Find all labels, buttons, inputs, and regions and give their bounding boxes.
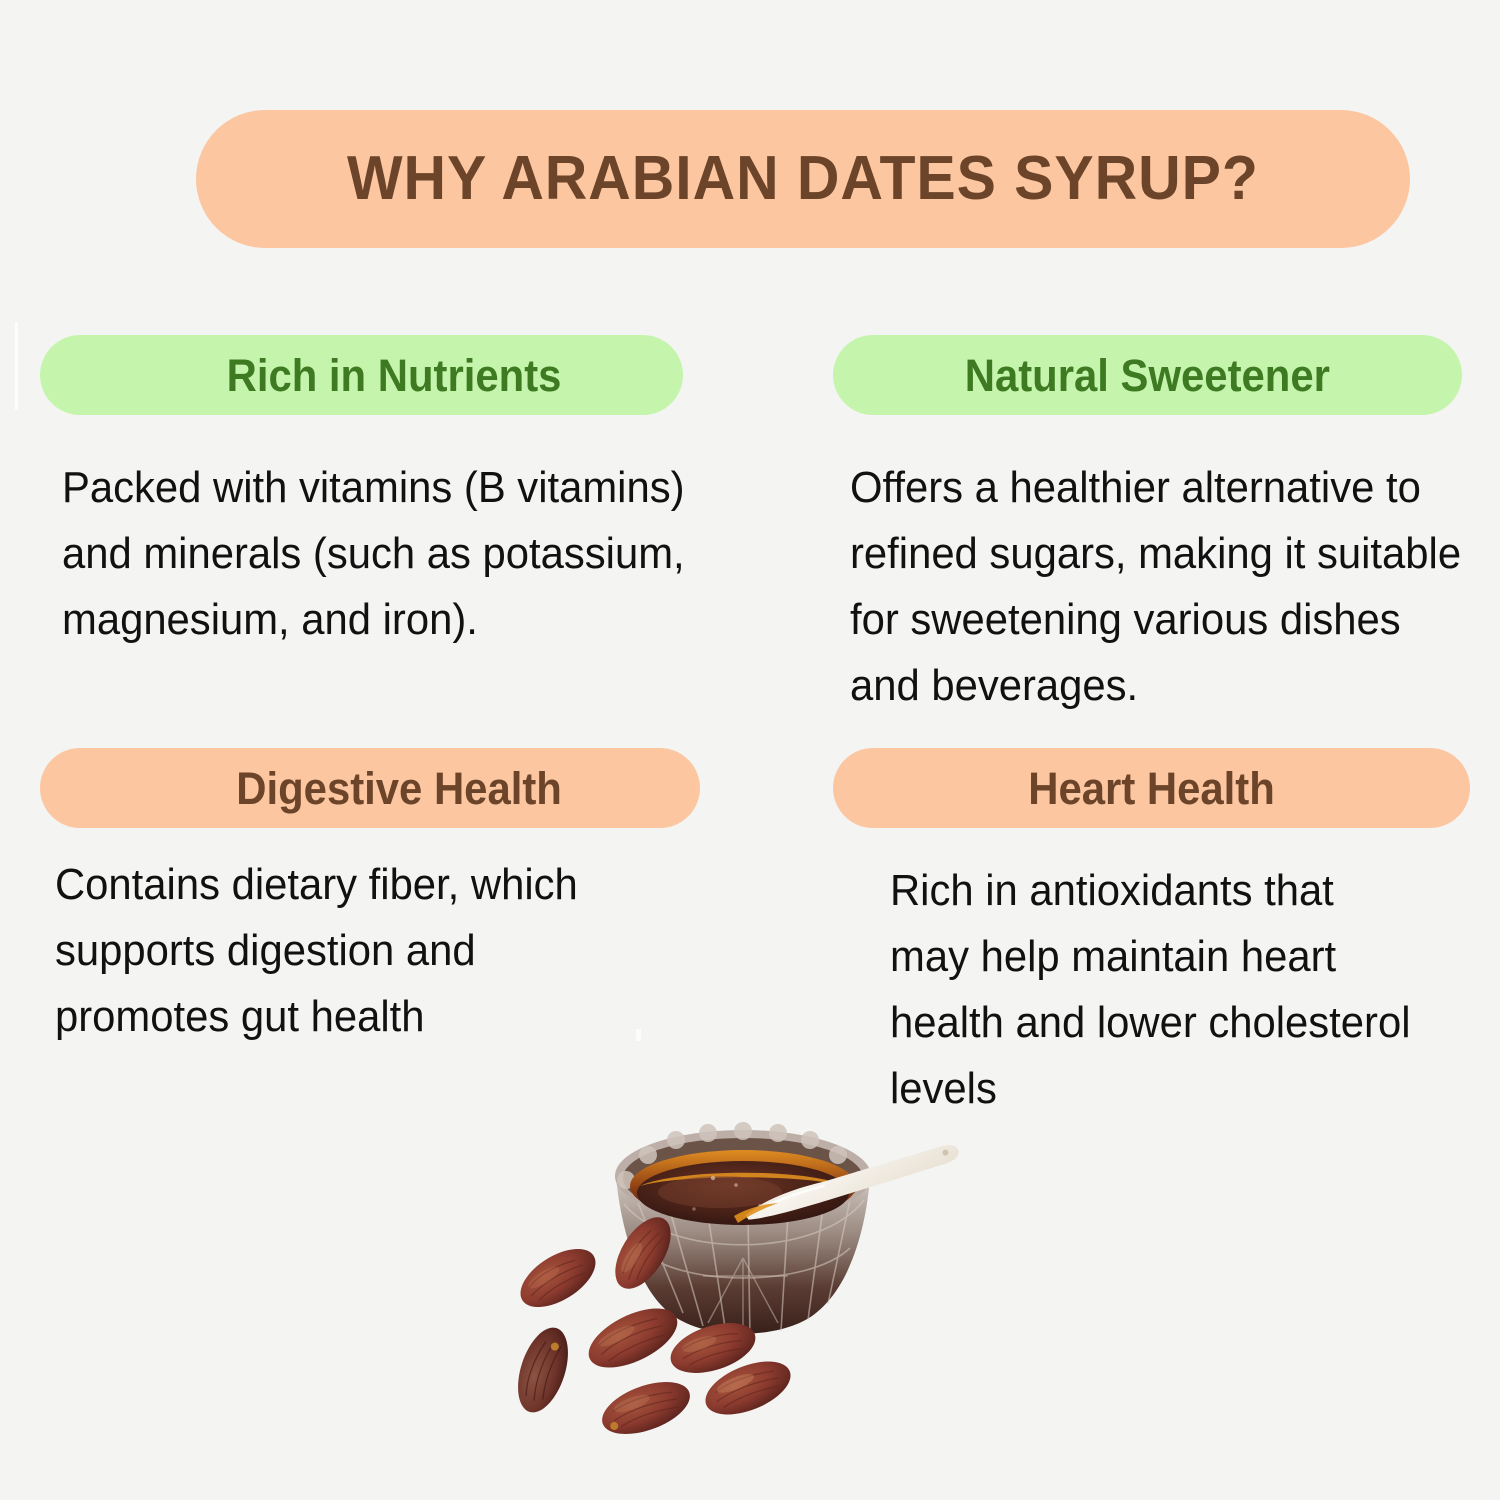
benefit-heading-heart-health: Heart Health [833, 748, 1470, 828]
left-edge-artifact [15, 322, 18, 410]
benefit-body-natural-sweetener: Offers a healthier alternative to refine… [850, 455, 1477, 719]
infographic-canvas: WHY ARABIAN DATES SYRUP? Rich in Nutrien… [0, 0, 1500, 1500]
benefit-heading-label: Heart Health [1028, 766, 1275, 811]
title-banner: WHY ARABIAN DATES SYRUP? [196, 110, 1410, 248]
benefit-heading-natural-sweetener: Natural Sweetener [833, 335, 1462, 415]
stray-dot-artifact [636, 1029, 641, 1041]
benefit-heading-digestive-health: Digestive Health [40, 748, 700, 828]
benefit-heading-label: Natural Sweetener [965, 353, 1330, 398]
page-title: WHY ARABIAN DATES SYRUP? [347, 148, 1259, 210]
benefit-body-rich-in-nutrients: Packed with vitamins (B vitamins) and mi… [62, 455, 708, 653]
benefit-heading-label: Digestive Health [236, 766, 562, 811]
dates-syrup-bowl-photo [498, 1108, 988, 1453]
benefit-body-heart-health: Rich in antioxidants that may help maint… [890, 858, 1422, 1122]
benefit-heading-label: Rich in Nutrients [227, 353, 562, 398]
benefit-heading-rich-in-nutrients: Rich in Nutrients [40, 335, 683, 415]
benefit-body-digestive-health: Contains dietary fiber, which supports d… [55, 852, 625, 1050]
